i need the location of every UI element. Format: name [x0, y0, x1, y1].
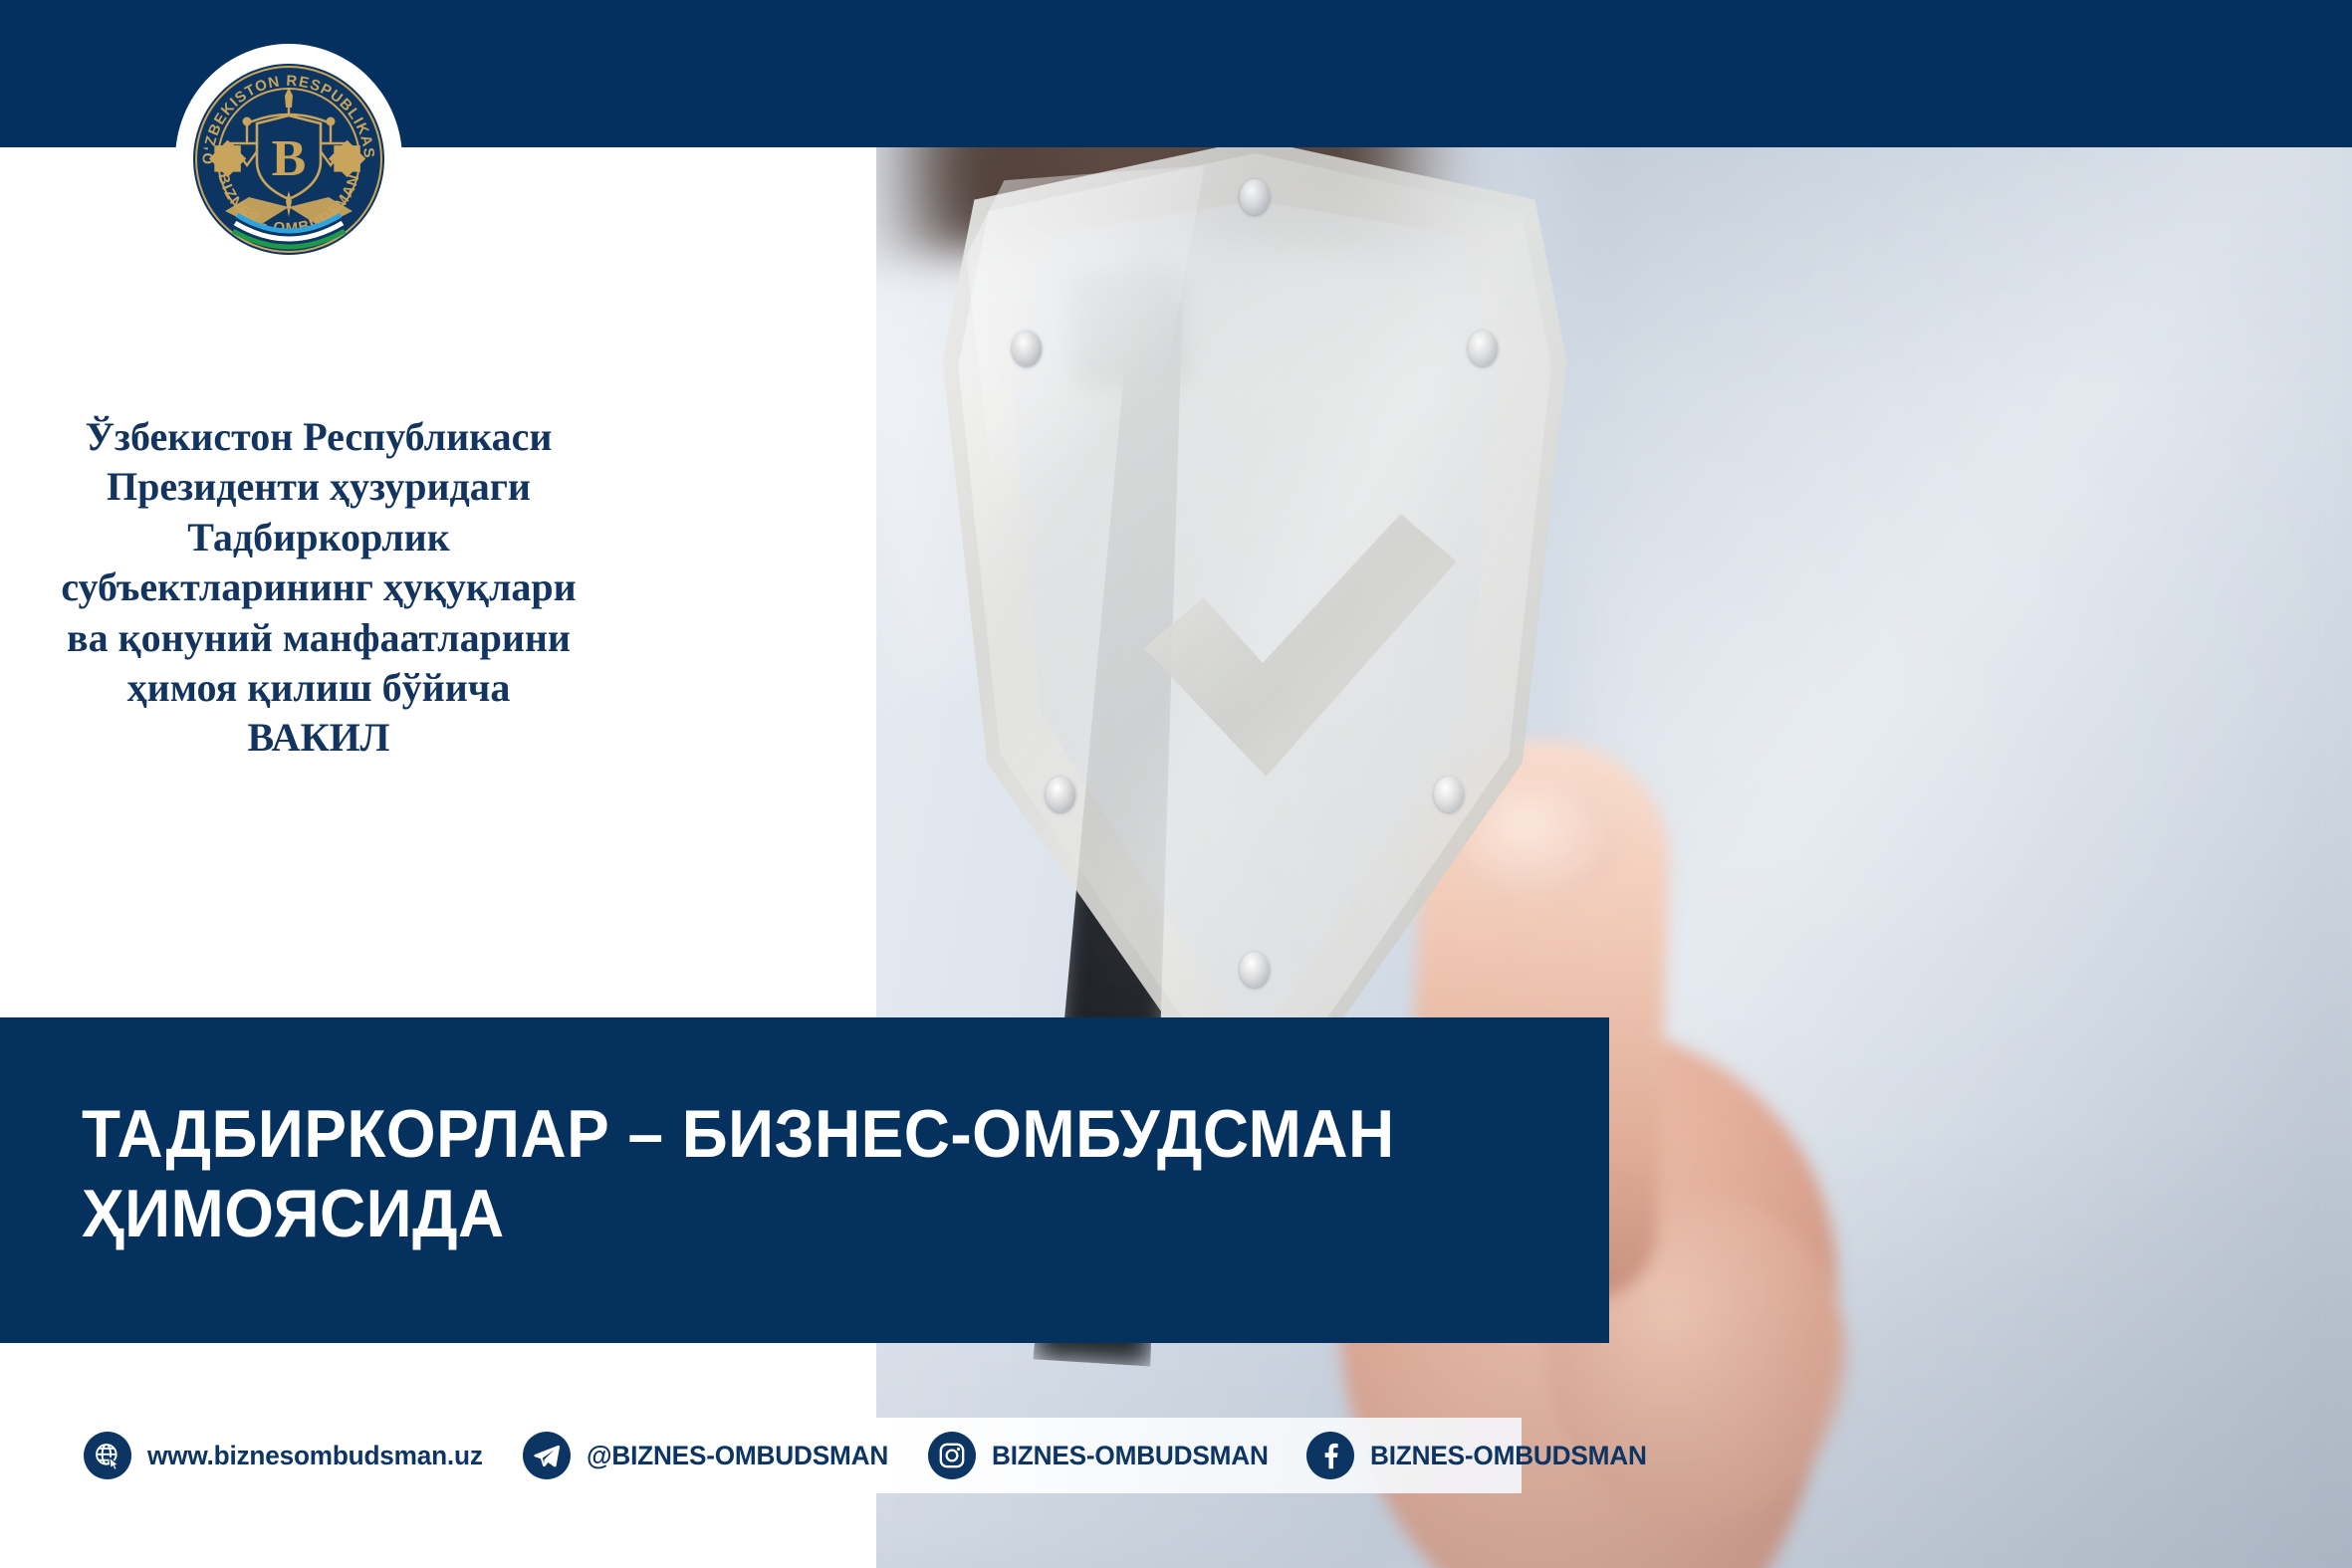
left-content-panel [0, 147, 876, 1568]
footer-contact-bar: www.biznesombudsman.uz @BIZNES-OMBUDSMAN… [0, 1418, 1522, 1493]
facebook-icon [1306, 1432, 1354, 1479]
instagram-icon [928, 1432, 976, 1479]
footer-instagram-label: BIZNES-OMBUDSMAN [992, 1441, 1269, 1471]
headline-banner: ТАДБИРКОРЛАР – БИЗНЕС-ОМБУДСМАН ҲИМОЯСИД… [0, 1017, 1609, 1343]
globe-cursor-icon [84, 1432, 131, 1479]
top-navy-band-right [876, 0, 2352, 147]
svg-text:B: B [272, 130, 307, 187]
headline-text: ТАДБИРКОРЛАР – БИЗНЕС-ОМБУДСМАН ҲИМОЯСИД… [82, 1095, 1505, 1253]
footer-item-facebook[interactable]: BIZNES-OMBUDSMAN [1306, 1432, 1655, 1479]
footer-telegram-label: @BIZNES-OMBUDSMAN [587, 1441, 888, 1471]
organisation-name-block: Ўзбекистон Республикаси Президенти ҳузур… [40, 412, 597, 764]
poster-canvas: O‘ZBEKISTON RESPUBLIKASI BIZNES - OMBUDS… [0, 0, 2352, 1568]
footer-website-label: www.biznesombudsman.uz [147, 1441, 483, 1471]
footer-facebook-label: BIZNES-OMBUDSMAN [1370, 1441, 1647, 1471]
telegram-icon [523, 1432, 571, 1479]
footer-item-telegram[interactable]: @BIZNES-OMBUDSMAN [523, 1432, 897, 1479]
footer-item-instagram[interactable]: BIZNES-OMBUDSMAN [928, 1432, 1277, 1479]
footer-item-website[interactable]: www.biznesombudsman.uz [84, 1432, 493, 1479]
biznes-ombudsman-emblem: O‘ZBEKISTON RESPUBLIKASI BIZNES - OMBUDS… [189, 58, 388, 261]
